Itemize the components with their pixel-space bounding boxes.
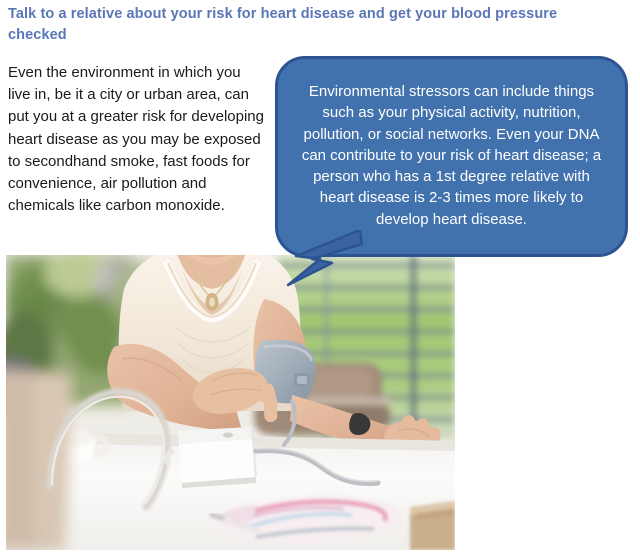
callout-text: Environmental stressors can include thin… — [278, 77, 625, 236]
callout-speech-bubble: Environmental stressors can include thin… — [275, 56, 628, 257]
body-paragraph: Even the environment in which you live i… — [8, 62, 264, 217]
page-title: Talk to a relative about your risk for h… — [8, 4, 588, 46]
blood-pressure-photo — [6, 255, 455, 550]
